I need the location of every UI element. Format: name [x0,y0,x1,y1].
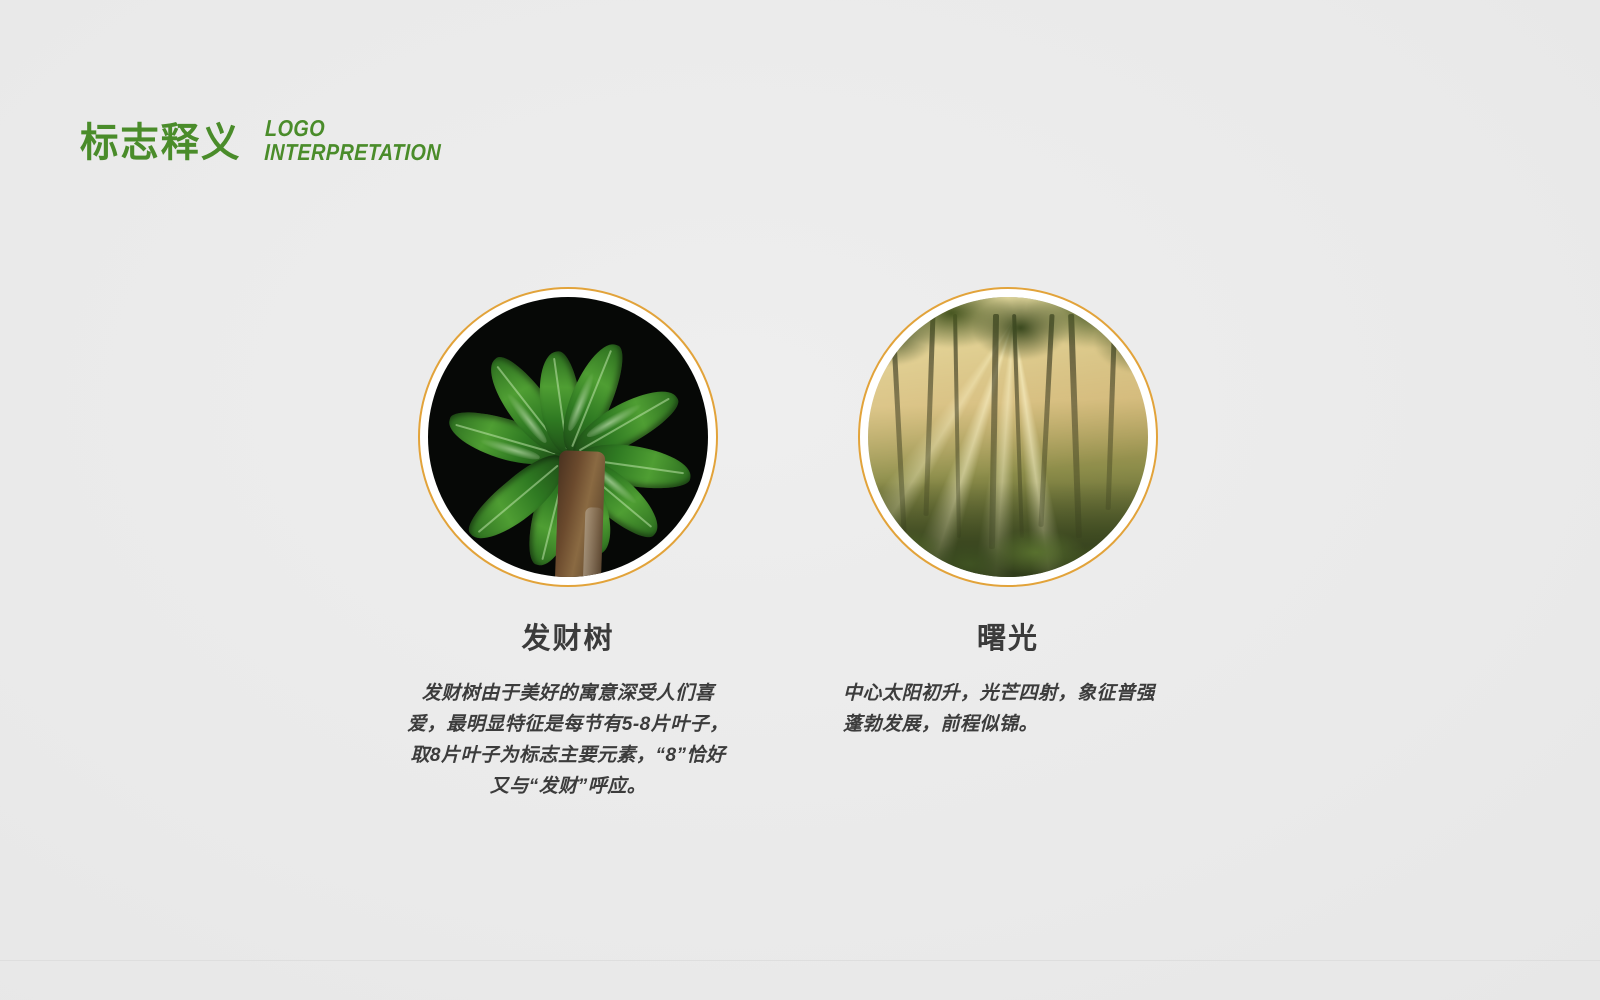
caption-title-money-tree: 发财树 [348,587,788,656]
medallion-money-tree [418,287,718,587]
bottom-divider [0,960,1600,961]
money-tree-photo [428,297,708,577]
medallion-dawn-light [858,287,1158,587]
forest-undergrowth [868,482,1148,577]
caption-body-money-tree: 发财树由于美好的寓意深受人们喜爱，最明显特征是每节有5-8片叶子，取8片叶子为标… [403,656,733,802]
page-subtitle: LOGO INTERPRETATION [264,116,442,164]
medallion-inner-dawn-light [868,297,1148,577]
sunbeam-forest-photo [868,297,1148,577]
forest-canopy [868,297,1148,409]
page-subtitle-line-2: INTERPRETATION [264,140,441,164]
medallion-inner-money-tree [428,297,708,577]
section-dawn-light: 曙光 中心太阳初升，光芒四射，象征普强蓬勃发展，前程似锦。 [788,287,1228,740]
page-title: 标志释义 [80,120,241,166]
section-money-tree: 发财树 发财树由于美好的寓意深受人们喜爱，最明显特征是每节有5-8片叶子，取8片… [348,287,788,802]
page-subtitle-line-1: LOGO [265,116,442,140]
slide-canvas: 标志释义 LOGO INTERPRETATION [0,0,1600,1000]
caption-body-dawn-light: 中心太阳初升，光芒四射，象征普强蓬勃发展，前程似锦。 [843,656,1173,740]
caption-title-dawn-light: 曙光 [788,587,1228,656]
page-header: 标志释义 LOGO INTERPRETATION [80,118,469,166]
